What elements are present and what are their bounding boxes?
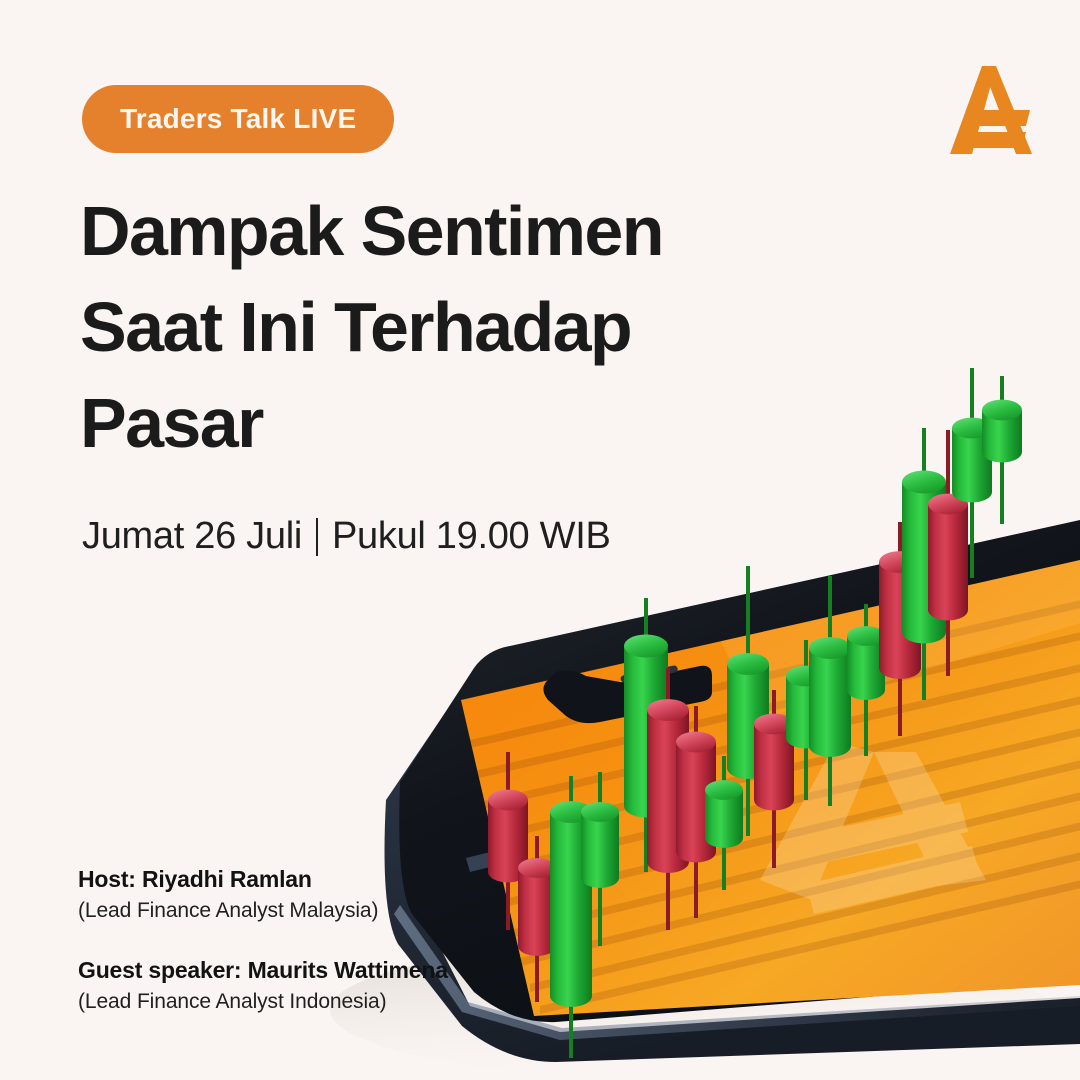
power-button [466,848,510,872]
candle-wick [1000,376,1004,524]
datetime-separator [316,518,318,556]
candle-body [754,724,794,800]
host-name: Host: Riyadhi Ramlan [78,866,448,893]
candle-17-up [952,368,992,578]
candle-cap [518,858,556,878]
screen-stripes [470,598,1080,1014]
candle-cap [786,666,826,687]
candle-cap [676,732,716,753]
brand-a-logo-icon [938,58,1042,160]
candle-body [902,482,946,632]
live-badge: Traders Talk LIVE [82,85,394,153]
candle-cap [952,418,992,439]
candle-cap [705,780,743,800]
candle-body [676,742,716,852]
screen-content [470,512,1080,1014]
title-line-1: Dampak Sentimen [80,196,800,266]
guest-role: (Lead Finance Analyst Indonesia) [78,990,448,1014]
candle-wick [828,576,832,806]
host-entry: Host: Riyadhi Ramlan (Lead Finance Analy… [78,866,448,923]
candle-cap [902,471,946,494]
title-line-3: Pasar [80,388,800,458]
candle-cap [928,494,968,515]
candle-body [550,812,592,996]
event-time: Pukul 19.00 WIB [332,515,611,558]
candle-body [624,646,668,806]
candle-11-up [786,640,826,800]
candle-13-up [847,604,885,756]
candle-15-up [902,428,946,700]
guest-entry: Guest speaker: Maurits Wattimena (Lead F… [78,957,448,1014]
candle-7-down [676,706,716,918]
candle-4-up [581,772,619,946]
candle-1-down [488,752,528,930]
candle-8-up [705,756,743,890]
title-line-2: Saat Ini Terhadap [80,292,800,362]
phone-bezel [399,520,1080,1022]
candle-wick [535,836,539,1002]
candle-cap [581,802,619,822]
guest-name: Guest speaker: Maurits Wattimena [78,957,448,984]
poster-canvas: Traders Talk LIVE Dampak Sentimen Saat I… [0,0,1080,1080]
earpiece-icon [620,665,678,683]
candle-cap [647,699,689,721]
candle-wick [922,428,926,700]
candle-cap [754,714,794,735]
candle-body [982,410,1022,452]
candle-cap [624,635,668,658]
candle-body [705,790,743,838]
candle-2-down [518,836,556,1002]
candle-12-up [809,576,851,806]
page-title: Dampak Sentimen Saat Ini Terhadap Pasar [80,196,800,484]
candle-10-down [754,690,794,868]
candle-body [809,648,851,746]
live-badge-label: Traders Talk LIVE [120,103,356,135]
candle-wick [506,752,510,930]
candle-9-up [727,566,769,836]
candle-body [952,428,992,492]
candle-wick [666,668,670,930]
candle-16-down [928,430,968,676]
phone-side-rail [385,528,1080,1062]
candle-wick [864,604,868,756]
rail-highlight [394,905,1080,1040]
candle-wick [644,598,648,872]
candle-wick [746,566,750,836]
candle-cap [879,551,921,573]
candle-cap [488,790,528,811]
candle-wick [970,368,974,578]
screen-watermark-a-icon [760,742,986,914]
host-role: (Lead Finance Analyst Malaysia) [78,899,448,923]
candle-body [847,636,885,690]
phone-notch [543,666,712,723]
candle-body [647,710,689,862]
candle-cap [809,637,851,659]
candle-wick [694,706,698,918]
speakers-block: Host: Riyadhi Ramlan (Lead Finance Analy… [78,866,448,1014]
candle-wick [804,640,808,800]
candle-body [488,800,528,872]
candle-wick [722,756,726,890]
event-datetime: Jumat 26 Juli Pukul 19.00 WIB [82,515,611,558]
candle-cap [550,801,592,823]
candle-5-up [624,598,668,872]
candle-cap [982,400,1022,421]
candle-6-down [647,668,689,930]
candle-cap [847,626,885,646]
candle-body [518,868,556,946]
candle-14-down [879,522,921,736]
candle-body [727,664,769,768]
candle-cap [727,653,769,675]
candle-body [928,504,968,610]
smartphone-3d [385,512,1080,1062]
candle-wick [946,430,950,676]
candle-wick [772,690,776,868]
candle-3-up [550,776,592,1058]
candle-body [786,676,826,738]
candle-body [581,812,619,878]
candle-wick [598,772,602,946]
event-date: Jumat 26 Juli [82,515,302,558]
candle-body [879,562,921,668]
phone-screen [461,560,1080,1016]
candle-wick [569,776,573,1058]
candle-18-up [982,376,1022,524]
candle-wick [898,522,902,736]
